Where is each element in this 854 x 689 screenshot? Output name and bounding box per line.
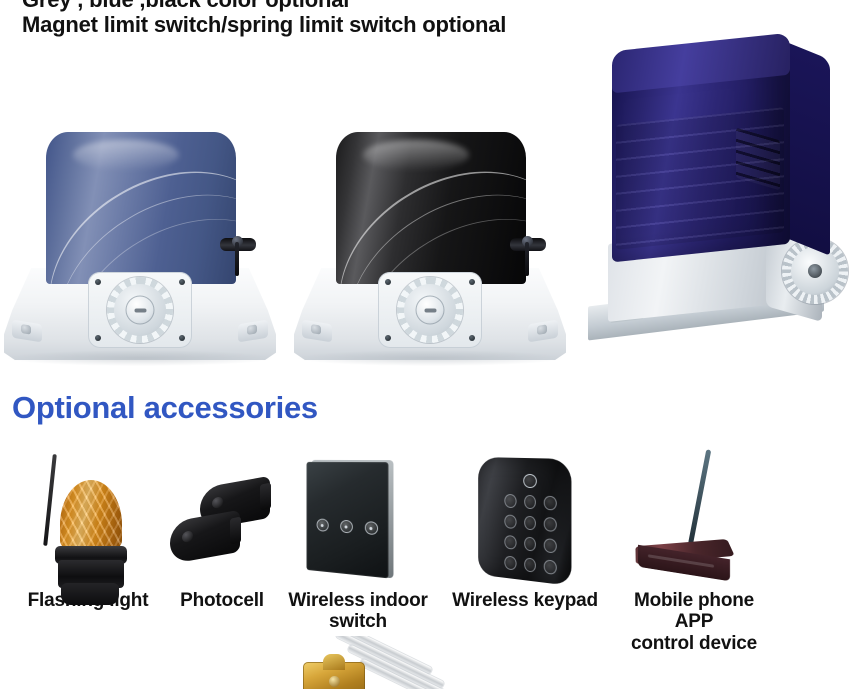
plate-screw-bottom-right [469,335,475,341]
sprocket-hub [126,296,155,325]
keypad-key-6[interactable] [544,517,557,532]
accessory-mobile-app-control-device[interactable]: Mobile phone APP control device [614,440,774,654]
brass-rack-bracket [303,662,365,689]
plate-screw-bottom-right [179,335,185,341]
gear-mounting-plate [88,272,192,348]
accessory-label-app-device-line2: control device [614,633,774,654]
keypad-key-4[interactable] [504,514,516,529]
cover-gloss-highlight [363,140,469,170]
keypad-icon [445,440,605,590]
touch-point-2[interactable] [340,520,353,534]
keypad-key-hash[interactable] [544,559,557,575]
sprocket-bore [808,264,822,278]
accessory-label-wireless-keypad: Wireless keypad [445,590,605,611]
drive-sprocket-gear [397,277,463,343]
photocell-cap [230,517,241,545]
product-industrial-sliding-gate-motor[interactable] [586,56,854,356]
sprocket-hub [416,296,445,325]
controller-antenna [688,449,711,544]
accessory-wireless-keypad[interactable]: Wireless keypad [445,440,605,611]
accessory-wireless-indoor-switch[interactable]: Wireless indoor switch [283,440,433,633]
beacon-antenna [43,454,57,546]
keypad-row-4 [504,555,556,574]
accessory-photocell[interactable]: Photocell [152,440,292,611]
keypad-key-3[interactable] [544,496,557,511]
ground-shadow [298,350,562,366]
manual-release-knob[interactable] [510,238,546,251]
keypad-row-1 [504,494,556,511]
switch-touch-points [307,518,389,536]
accessory-label-indoor-switch-line1: Wireless indoor [283,590,433,611]
keypad-key-1[interactable] [504,494,516,508]
keypad-key-star[interactable] [504,555,516,570]
photocell-cap [260,483,271,511]
touch-point-1[interactable] [316,519,328,532]
flashing-beacon-icon [8,440,168,590]
ground-shadow [8,350,272,366]
keypad-row-power [504,473,556,489]
keypad-key-power[interactable] [523,474,537,488]
optional-accessories-title: Optional accessories [12,390,318,426]
opener-cover-blue [46,132,236,284]
rack-gear-mounting-hardware[interactable] [295,636,555,689]
beacon-amber-dome [60,480,122,552]
plate-screw-top-right [179,279,185,285]
opener-cover-black [336,132,526,284]
industrial-motor-body [586,56,854,356]
plate-screw-bottom-left [385,335,391,341]
accessory-gallery: Flashing light Photocell Wireless [0,440,854,650]
plate-screw-top-left [385,279,391,285]
opener-body-blue [4,120,276,370]
accessory-label-photocell: Photocell [152,590,292,611]
keypad-key-7[interactable] [504,535,516,550]
product-sliding-gate-opener-black[interactable] [294,120,566,370]
photocell-unit-receiver [170,510,240,564]
accessory-label-app-device-line1: Mobile phone APP [614,590,774,633]
keypad-key-2[interactable] [524,495,536,510]
accessory-label-indoor-switch-line2: switch [283,611,433,632]
touch-panel-switch-icon [283,440,433,590]
plate-screw-top-right [469,279,475,285]
photocell-pair-icon [152,440,292,590]
plate-screw-top-left [95,279,101,285]
product-sliding-gate-opener-blue[interactable] [4,120,276,370]
plate-screw-bottom-left [95,335,101,341]
cover-gloss-highlight [73,140,179,170]
beacon-mount-foot [61,583,119,605]
keypad-key-8[interactable] [524,537,536,552]
touch-point-3[interactable] [364,521,377,535]
opener-body-black [294,120,566,370]
keypad-key-9[interactable] [544,538,557,553]
keypad-key-0[interactable] [524,557,536,572]
keypad-row-2 [504,514,556,532]
wifi-controller-icon [614,440,774,590]
keypad-row-3 [504,535,556,554]
switch-glass-panel [307,462,389,579]
heading-limit-switch: Magnet limit switch/spring limit switch … [22,12,506,38]
gear-mounting-plate [378,272,482,348]
accessory-flashing-light[interactable]: Flashing light [8,440,168,611]
keypad-key-grid [504,473,556,582]
keypad-key-5[interactable] [524,516,536,531]
manual-release-knob[interactable] [220,238,256,251]
drive-sprocket-gear [107,277,173,343]
product-gallery [0,80,854,370]
